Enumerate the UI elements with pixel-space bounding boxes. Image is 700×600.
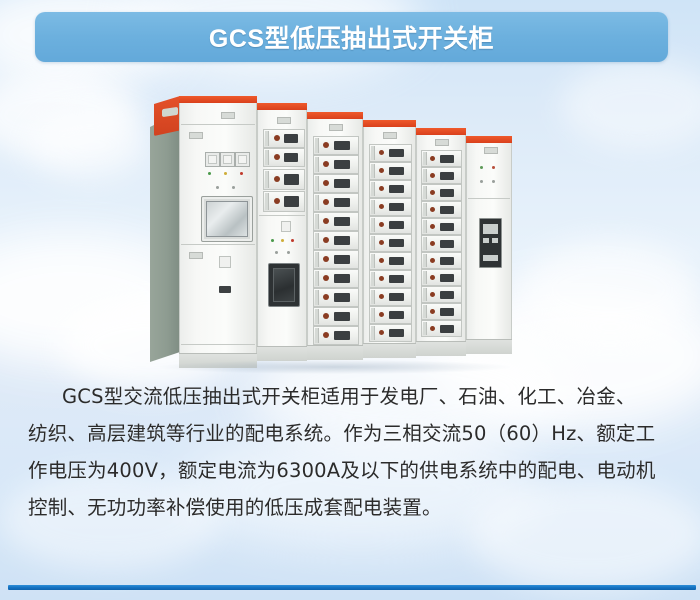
drawer-unit (421, 303, 462, 320)
selector-switch-a (275, 251, 278, 254)
cabinet-6-power-factor-controller (479, 218, 502, 268)
cabinet-4-plinth (363, 343, 416, 358)
drawer-unit (421, 320, 462, 337)
cabinet-4 (363, 120, 416, 358)
drawer-unit (313, 231, 359, 250)
selector-switch-b (232, 186, 235, 189)
description-line-1: GCS型交流低压抽出式开关柜适用于发电厂、石油、化工、冶金、 (28, 378, 676, 415)
drawer-unit (369, 270, 412, 288)
drawer-unit (369, 288, 412, 306)
cabinet-3-nameplate (329, 124, 343, 131)
cabinet-6-plinth (466, 339, 512, 354)
selector-switch-b (492, 180, 495, 183)
cabinet-side-panel (150, 112, 180, 362)
selector-switch-a (480, 180, 483, 183)
indicator-lamp-green (271, 239, 274, 242)
cabinet-3 (307, 112, 363, 360)
cabinet-6-top-strip (466, 136, 512, 143)
drawer-unit (313, 307, 359, 326)
cabinet-2-controller (268, 263, 300, 307)
page-title: GCS型低压抽出式开关柜 (209, 19, 494, 55)
drawer-unit (421, 184, 462, 201)
drawer-unit (369, 162, 412, 180)
drawer-unit (421, 167, 462, 184)
cabinet-6 (466, 136, 512, 354)
drawer-unit (421, 218, 462, 235)
cabinet-4-top-strip (363, 120, 416, 127)
cabinet-1-door-lock (219, 286, 231, 293)
page-root: GCS型低压抽出式开关柜 (0, 0, 700, 600)
product-photo-switchgear (150, 92, 510, 377)
drawer-unit (421, 201, 462, 218)
cabinet-2-plinth (257, 346, 307, 361)
drawer-unit (369, 234, 412, 252)
product-description: GCS型交流低压抽出式开关柜适用于发电厂、石油、化工、冶金、 纺织、高层建筑等行… (28, 378, 676, 526)
drawer-unit (313, 326, 359, 345)
drawer-unit (421, 269, 462, 286)
cabinet-1-top-strip (179, 96, 257, 103)
drawer-unit (421, 252, 462, 269)
drawer-unit (263, 191, 305, 212)
cabinet-3-plinth (307, 345, 363, 360)
drawer-unit (369, 252, 412, 270)
drawer-unit (369, 306, 412, 324)
cabinet-1-lower-door-tag (189, 252, 203, 259)
indicator-lamp-yellow (224, 172, 227, 175)
drawer-unit (313, 193, 359, 212)
cabinet-side-orange-cap (154, 96, 180, 136)
description-line-4: 控制、无功功率补偿使用的低压成套配电装置。 (28, 489, 676, 526)
cabinet-1-voltmeter (235, 152, 250, 167)
drawer-unit (313, 174, 359, 193)
drawer-unit (313, 250, 359, 269)
cabinet-1-ammeter-a (205, 152, 220, 167)
cabinet-3-top-strip (307, 112, 363, 119)
selector-switch-a (216, 186, 219, 189)
cabinet-2-top-strip (257, 103, 307, 110)
drawer-unit (369, 180, 412, 198)
cabinet-1 (179, 96, 257, 368)
footer-divider (8, 585, 696, 590)
selector-switch-b (287, 251, 290, 254)
drawer-unit (263, 148, 305, 167)
drawer-unit (421, 235, 462, 252)
drawer-unit (313, 288, 359, 307)
drawer-unit (313, 155, 359, 174)
indicator-lamp-green (480, 166, 483, 169)
cabinet-5-top-strip (416, 128, 466, 135)
drawer-unit (313, 269, 359, 288)
cabinet-2-nameplate (277, 117, 291, 124)
cabinet-1-nameplate (221, 112, 235, 119)
cabinet-2-vent (281, 221, 291, 232)
drawer-unit (369, 216, 412, 234)
cabinet-2 (257, 103, 307, 361)
cabinet-5-nameplate (435, 139, 449, 146)
indicator-lamp-yellow (281, 239, 284, 242)
cabinet-1-door-tag (189, 132, 203, 139)
cabinet-5-plinth (416, 341, 466, 356)
drawer-unit (263, 169, 305, 190)
page-title-banner: GCS型低压抽出式开关柜 (35, 12, 668, 62)
drawer-unit (369, 198, 412, 216)
drawer-unit (369, 324, 412, 342)
cabinet-6-nameplate (484, 147, 498, 154)
cabinet-1-protection-relay (201, 196, 253, 242)
drawer-unit (263, 129, 305, 148)
indicator-lamp-red (291, 239, 294, 242)
drawer-unit (313, 136, 359, 155)
indicator-lamp-red (492, 166, 495, 169)
cabinet-4-nameplate (383, 132, 397, 139)
description-line-3: 作电压为400V，额定电流为6300A及以下的供电系统中的配电、电动机 (28, 452, 676, 489)
drawer-unit (313, 212, 359, 231)
drawer-unit (369, 144, 412, 162)
cabinet-5 (416, 128, 466, 356)
indicator-lamp-red (240, 172, 243, 175)
cabinet-1-ammeter-b (220, 152, 235, 167)
cabinet-side-handle (162, 107, 178, 117)
photo-ground-shadow (160, 360, 510, 374)
drawer-unit (421, 150, 462, 167)
indicator-lamp-green (208, 172, 211, 175)
drawer-unit (421, 286, 462, 303)
description-line-2: 纺织、高层建筑等行业的配电系统。作为三相交流50（60）Hz、额定工 (28, 415, 676, 452)
cabinet-1-lower-vent (219, 256, 231, 268)
